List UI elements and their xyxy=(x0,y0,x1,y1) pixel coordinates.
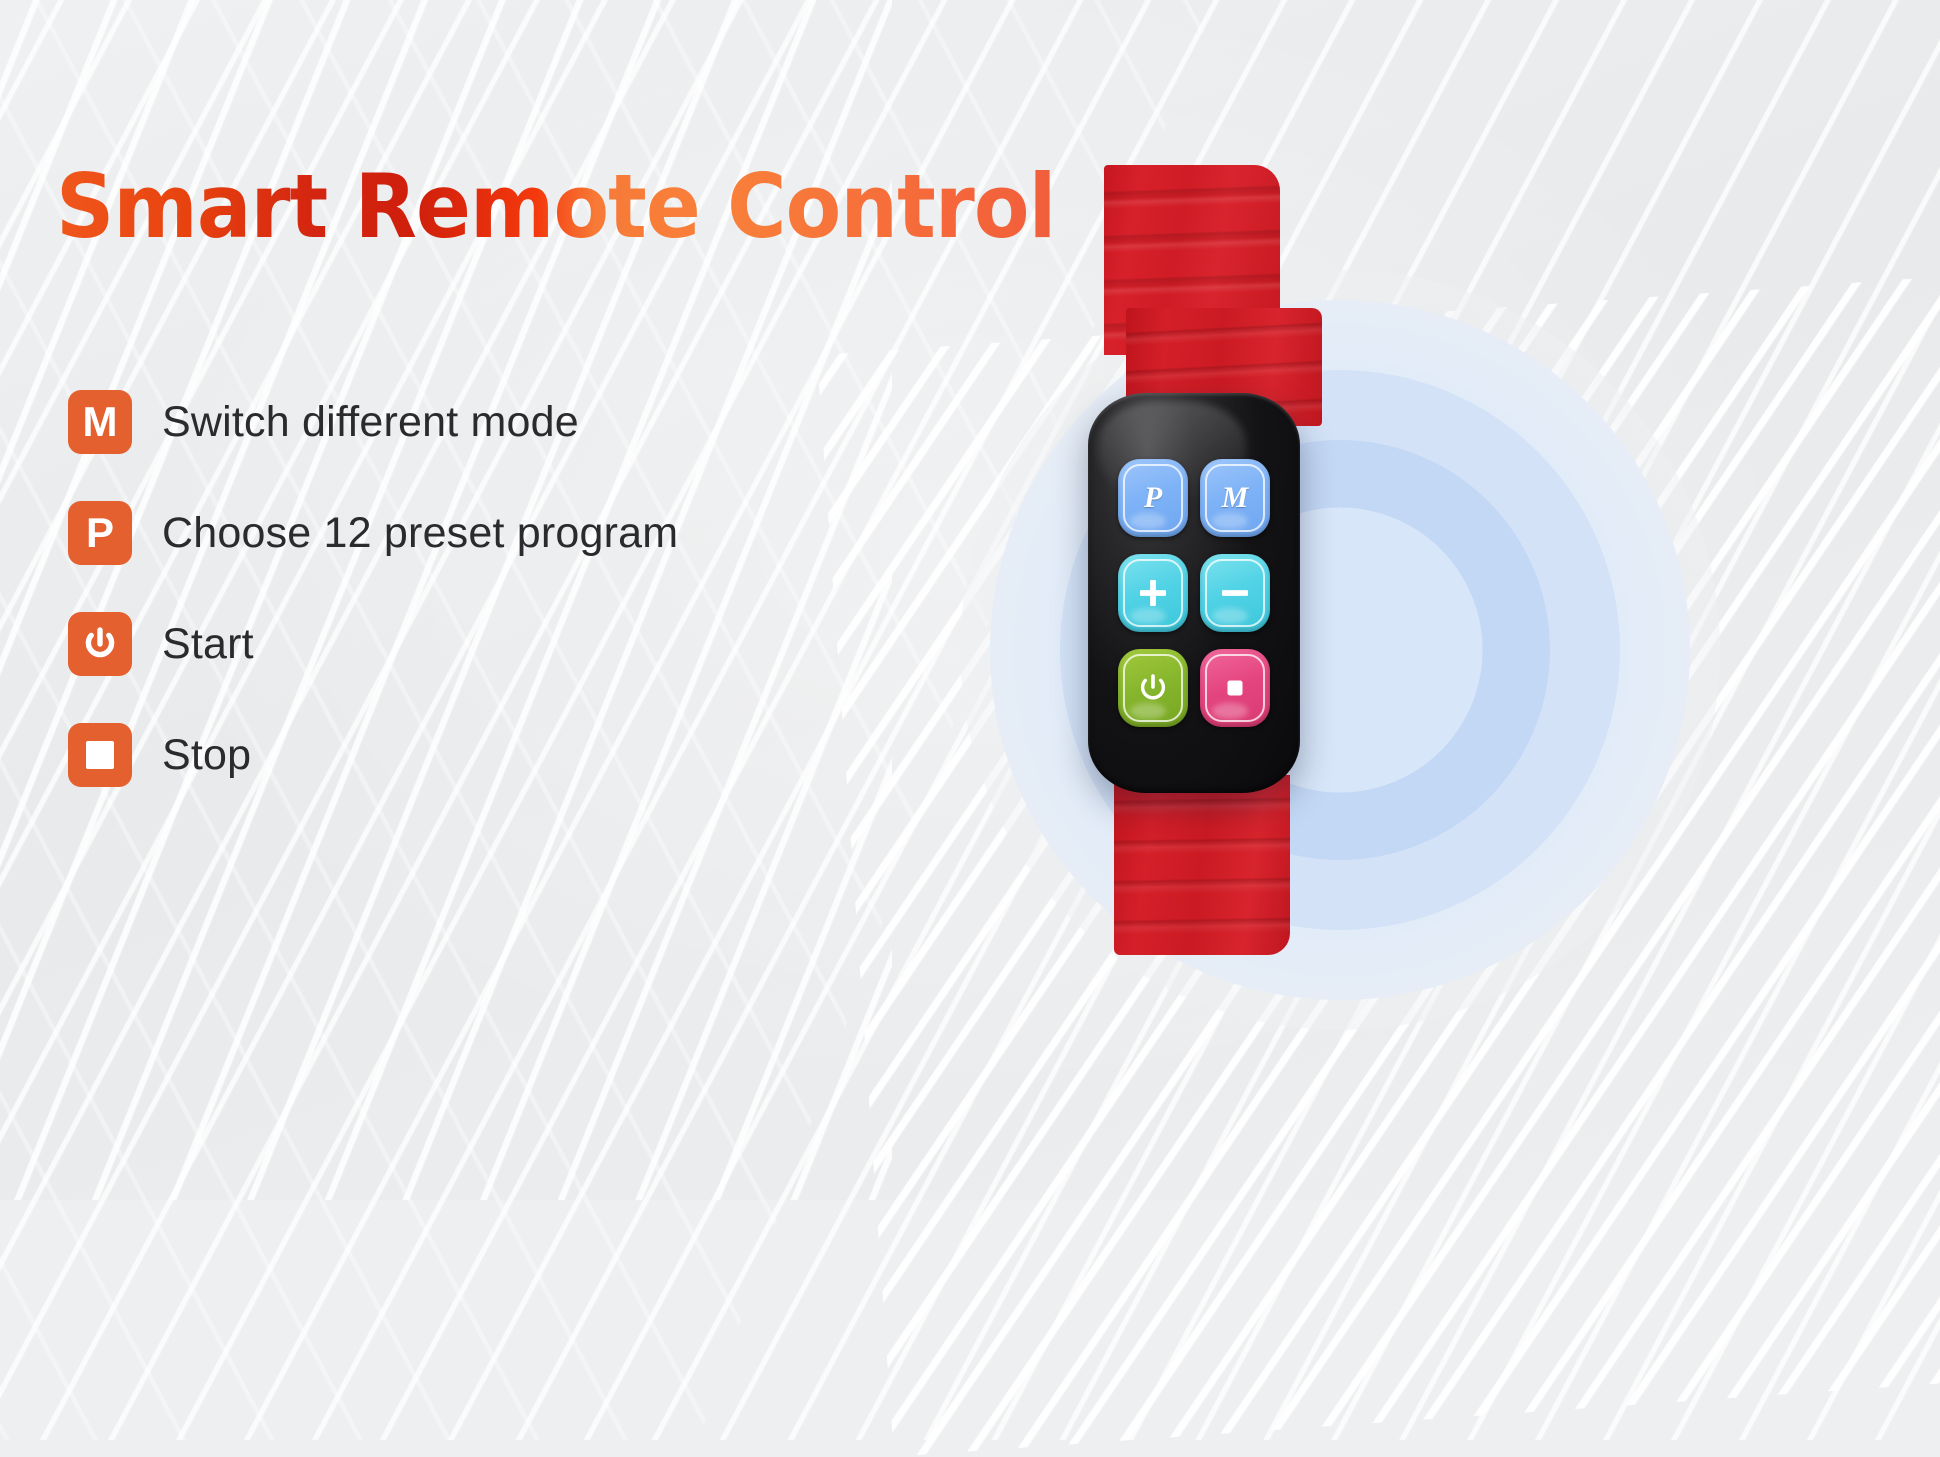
stop-square-icon xyxy=(68,723,132,787)
power-key[interactable] xyxy=(1118,649,1188,727)
feature-label: Start xyxy=(162,620,254,669)
feature-label: Choose 12 preset program xyxy=(162,509,678,558)
feature-label: Stop xyxy=(162,731,251,780)
watch-keypad: P M xyxy=(1118,459,1270,727)
increase-key[interactable] xyxy=(1118,554,1188,632)
badge-letter: P xyxy=(86,512,114,554)
letter-m-badge: M xyxy=(68,390,132,454)
list-item: Stop xyxy=(68,723,888,787)
feature-label: Switch different mode xyxy=(162,398,579,447)
power-icon xyxy=(68,612,132,676)
letter-p-badge: P xyxy=(68,501,132,565)
preset-key[interactable]: P xyxy=(1118,459,1188,537)
list-item: P Choose 12 preset program xyxy=(68,501,888,565)
watch-strap-bottom xyxy=(1114,775,1290,955)
badge-letter: M xyxy=(83,401,118,443)
smart-watch-remote: P M xyxy=(1040,165,1340,945)
mode-key-label: M xyxy=(1222,481,1249,515)
key-highlight xyxy=(1212,513,1248,529)
stop-key[interactable] xyxy=(1200,649,1270,727)
list-item: Start xyxy=(68,612,888,676)
list-item: M Switch different mode xyxy=(68,390,888,454)
watch-case: P M xyxy=(1088,393,1300,793)
mode-key[interactable]: M xyxy=(1200,459,1270,537)
preset-key-label: P xyxy=(1144,481,1162,515)
decrease-key[interactable] xyxy=(1200,554,1270,632)
key-highlight xyxy=(1130,513,1166,529)
feature-list: M Switch different mode P Choose 12 pres… xyxy=(68,390,888,834)
product-image: P M xyxy=(800,130,1880,1130)
